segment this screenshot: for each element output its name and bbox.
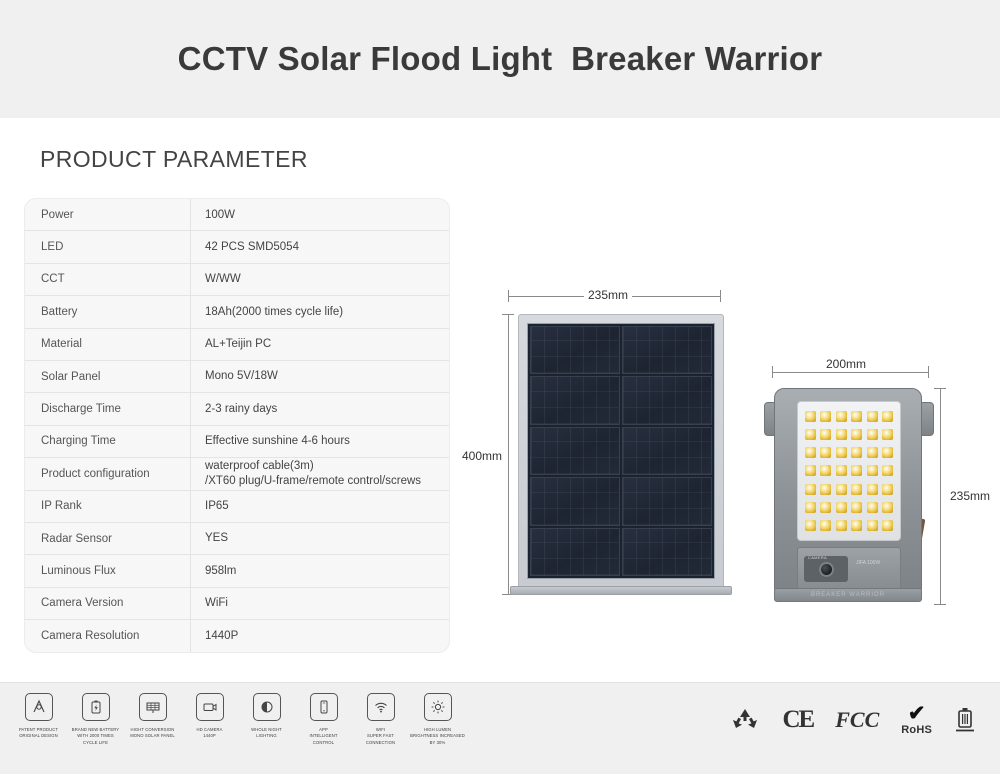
led-chip xyxy=(805,465,816,476)
param-value: Effective sunshine 4-6 hours xyxy=(191,426,449,457)
product-spec-page: CCTV Solar Flood Light Breaker Warrior P… xyxy=(0,0,1000,774)
footer-bar: PATENT PRODUCT ORIGINAL DESIGN BRAND NEW… xyxy=(0,682,1000,774)
solar-cell xyxy=(622,528,712,576)
param-value: 18Ah(2000 times cycle life) xyxy=(191,296,449,327)
wifi-icon xyxy=(367,693,395,721)
param-value: 100W xyxy=(191,199,449,230)
param-value: 2-3 rainy days xyxy=(191,393,449,424)
led-chip xyxy=(820,411,831,422)
led-chip xyxy=(805,447,816,458)
section-title: PRODUCT PARAMETER xyxy=(40,146,308,173)
solar-cell xyxy=(622,376,712,424)
solar-cell xyxy=(530,477,620,525)
led-chip xyxy=(867,447,878,458)
night-light-icon xyxy=(253,693,281,721)
param-key: Discharge Time xyxy=(25,393,191,424)
param-value: AL+Teijin PC xyxy=(191,329,449,360)
table-row: Battery 18Ah(2000 times cycle life) xyxy=(25,296,449,328)
led-chip xyxy=(820,484,831,495)
solar-cell xyxy=(622,326,712,374)
param-key: Material xyxy=(25,329,191,360)
param-key: Camera Resolution xyxy=(25,620,191,652)
feature-item: PATENT PRODUCT ORIGINAL DESIGN xyxy=(10,693,67,746)
led-chip xyxy=(851,465,862,476)
led-chip xyxy=(805,502,816,513)
brand-plate-label: JIFA 100W xyxy=(856,560,880,567)
feature-label: PATENT PRODUCT ORIGINAL DESIGN xyxy=(19,727,58,740)
panel-height-label: 400mm xyxy=(458,449,506,463)
led-chip xyxy=(805,411,816,422)
flood-light-image: CAMERA JIFA 100W BREAKER WARRIOR xyxy=(760,360,960,620)
param-key: Radar Sensor xyxy=(25,523,191,554)
solar-panel-image xyxy=(500,280,750,600)
led-chip xyxy=(882,484,893,495)
brightness-icon xyxy=(424,693,452,721)
param-key: Luminous Flux xyxy=(25,555,191,586)
param-key: Charging Time xyxy=(25,426,191,457)
table-row: Power 100W xyxy=(25,199,449,231)
feature-item: WIFI SUPER FAST CONNECTION xyxy=(352,693,409,746)
param-value: 958lm xyxy=(191,555,449,586)
table-row: Discharge Time 2-3 rainy days xyxy=(25,393,449,425)
solar-panel-base xyxy=(510,586,732,595)
hd-camera-icon xyxy=(196,693,224,721)
solar-cell xyxy=(530,427,620,475)
feature-label: WHOLE NIGHT LIGHTING xyxy=(251,727,282,740)
led-chip xyxy=(805,520,816,531)
feature-item: HIGHT CONVERSION MONO SOLAR PANEL xyxy=(124,693,181,746)
table-row: IP Rank IP65 xyxy=(25,491,449,523)
led-chip xyxy=(882,465,893,476)
solar-panel-icon xyxy=(139,693,167,721)
led-chip xyxy=(867,465,878,476)
param-value: W/WW xyxy=(191,264,449,295)
led-chip xyxy=(882,411,893,422)
led-chip xyxy=(851,520,862,531)
param-key: Camera Version xyxy=(25,588,191,619)
solar-cell xyxy=(530,528,620,576)
param-value: YES xyxy=(191,523,449,554)
led-chip xyxy=(867,484,878,495)
feature-label: WIFI SUPER FAST CONNECTION xyxy=(366,727,395,746)
flood-light-bottom-bar: BREAKER WARRIOR xyxy=(774,588,922,602)
led-chip xyxy=(851,502,862,513)
table-row: Camera Version WiFi xyxy=(25,588,449,620)
feature-label: HIGH LUMEN BRIGHTNESS INCREASED BY 30% xyxy=(410,727,465,746)
feature-label: APP INTELLIGENT CONTROL xyxy=(309,727,337,746)
certification-marks: CE FCC ✔ RoHS xyxy=(730,705,978,736)
led-chip xyxy=(805,429,816,440)
table-row: Luminous Flux 958lm xyxy=(25,555,449,587)
solar-cell xyxy=(622,427,712,475)
led-chip xyxy=(820,520,831,531)
camera-module: CAMERA xyxy=(804,556,848,582)
led-chip xyxy=(882,520,893,531)
led-chip xyxy=(836,502,847,513)
param-key: IP Rank xyxy=(25,491,191,522)
led-chip xyxy=(882,447,893,458)
led-chip xyxy=(836,447,847,458)
table-row: Solar Panel Mono 5V/18W xyxy=(25,361,449,393)
solar-cell xyxy=(530,326,620,374)
param-key: LED xyxy=(25,231,191,262)
solar-panel-frame xyxy=(518,314,724,590)
page-title: CCTV Solar Flood Light Breaker Warrior xyxy=(178,40,823,78)
feature-label: BRAND NEW BATTERY WITH 2000 TIMES CYCLE … xyxy=(72,727,119,746)
table-row: Camera Resolution 1440P xyxy=(25,620,449,652)
solar-cell xyxy=(622,477,712,525)
led-chip xyxy=(867,429,878,440)
led-chip xyxy=(820,465,831,476)
led-chip xyxy=(851,447,862,458)
param-key: Solar Panel xyxy=(25,361,191,392)
led-chip xyxy=(805,484,816,495)
led-chip xyxy=(882,429,893,440)
param-key: CCT xyxy=(25,264,191,295)
feature-icon-strip: PATENT PRODUCT ORIGINAL DESIGN BRAND NEW… xyxy=(10,693,466,746)
led-chip xyxy=(851,429,862,440)
led-chip xyxy=(836,484,847,495)
param-key: Battery xyxy=(25,296,191,327)
led-chip xyxy=(867,411,878,422)
param-value: waterproof cable(3m) /XT60 plug/U-frame/… xyxy=(191,458,449,489)
led-chip xyxy=(851,411,862,422)
led-array xyxy=(797,401,901,541)
led-chip xyxy=(820,447,831,458)
led-chip xyxy=(851,484,862,495)
solar-cell xyxy=(530,376,620,424)
led-chip xyxy=(836,520,847,531)
flood-light-lower-panel: CAMERA JIFA 100W xyxy=(797,547,901,591)
led-chip xyxy=(836,465,847,476)
param-key: Power xyxy=(25,199,191,230)
table-row: Charging Time Effective sunshine 4-6 hou… xyxy=(25,426,449,458)
feature-label: HIGHT CONVERSION MONO SOLAR PANEL xyxy=(130,727,175,740)
rohs-mark: ✔ RoHS xyxy=(901,705,932,736)
feature-label: HD CAMERA 1440P xyxy=(196,727,222,740)
param-value: 1440P xyxy=(191,620,449,652)
camera-label: CAMERA xyxy=(808,555,827,560)
camera-lens-icon xyxy=(819,562,834,577)
weee-mark-icon xyxy=(954,705,978,735)
led-chip xyxy=(836,411,847,422)
solar-cell-grid xyxy=(527,323,715,579)
param-value: 42 PCS SMD5054 xyxy=(191,231,449,262)
led-chip xyxy=(836,429,847,440)
feature-item: WHOLE NIGHT LIGHTING xyxy=(238,693,295,746)
table-row: Product configuration waterproof cable(3… xyxy=(25,458,449,490)
led-chip xyxy=(867,502,878,513)
feature-item: APP INTELLIGENT CONTROL xyxy=(295,693,352,746)
param-value: WiFi xyxy=(191,588,449,619)
feature-item: HD CAMERA 1440P xyxy=(181,693,238,746)
battery-icon xyxy=(82,693,110,721)
param-key: Product configuration xyxy=(25,458,191,489)
page-header: CCTV Solar Flood Light Breaker Warrior xyxy=(0,0,1000,118)
param-value: IP65 xyxy=(191,491,449,522)
led-chip xyxy=(867,520,878,531)
feature-item: BRAND NEW BATTERY WITH 2000 TIMES CYCLE … xyxy=(67,693,124,746)
patent-icon xyxy=(25,693,53,721)
table-row: Material AL+Teijin PC xyxy=(25,329,449,361)
ce-mark: CE xyxy=(782,706,813,734)
app-control-icon xyxy=(310,693,338,721)
check-icon: ✔ xyxy=(908,705,926,724)
param-value: Mono 5V/18W xyxy=(191,361,449,392)
parameter-table: Power 100W LED 42 PCS SMD5054 CCT W/WW B… xyxy=(24,198,450,653)
table-row: Radar Sensor YES xyxy=(25,523,449,555)
led-chip xyxy=(820,502,831,513)
fcc-mark: FCC xyxy=(835,707,879,733)
table-row: LED 42 PCS SMD5054 xyxy=(25,231,449,263)
table-row: CCT W/WW xyxy=(25,264,449,296)
led-chip xyxy=(820,429,831,440)
led-chip xyxy=(882,502,893,513)
rohs-label: RoHS xyxy=(901,724,932,736)
recycle-mark-icon xyxy=(730,706,760,734)
feature-item: HIGH LUMEN BRIGHTNESS INCREASED BY 30% xyxy=(409,693,466,746)
flood-light-housing: CAMERA JIFA 100W xyxy=(774,388,922,598)
